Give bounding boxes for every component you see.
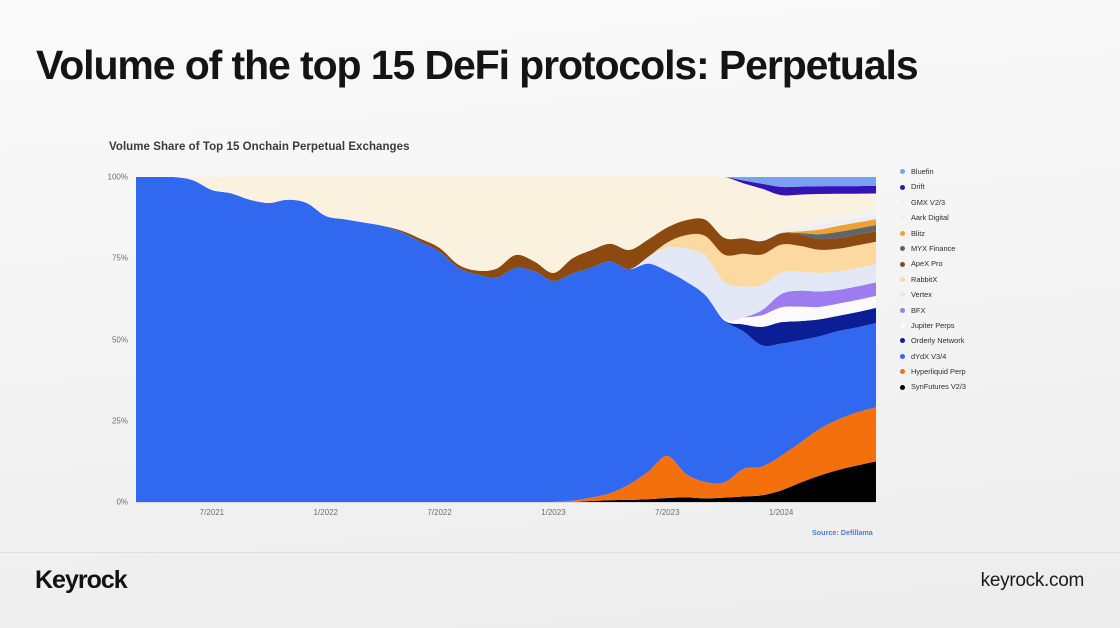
legend-color-swatch-icon [900,323,905,328]
brand-logo: Keyrock [35,566,127,595]
chart-title: Volume Share of Top 15 Onchain Perpetual… [109,141,410,153]
chart-panel: Volume Share of Top 15 Onchain Perpetual… [100,132,900,542]
legend-color-swatch-icon [900,262,905,267]
x-axis-tick-label: 1/2022 [314,508,338,517]
legend-item[interactable]: SynFutures V2/3 [900,379,1050,394]
legend-item[interactable]: RabbitX [900,272,1050,287]
legend-item-label: Blitz [911,226,925,241]
legend-item-label: MYX Finance [911,241,955,256]
legend-color-swatch-icon [900,200,905,205]
page-title: Volume of the top 15 DeFi protocols: Per… [36,42,918,89]
legend-color-swatch-icon [900,292,905,297]
x-axis-tick-labels: 7/20211/20227/20221/20237/20231/2024 [136,508,876,524]
x-axis-tick-label: 7/2022 [427,508,451,517]
legend-item-label: SynFutures V2/3 [911,379,966,394]
x-axis-tick-label: 7/2023 [655,508,679,517]
legend-item-label: Jupiter Perps [911,318,955,333]
website-url: keyrock.com [981,570,1084,592]
legend-color-swatch-icon [900,277,905,282]
legend-item[interactable]: GMX V2/3 [900,195,1050,210]
legend-color-swatch-icon [900,185,905,190]
legend-color-swatch-icon [900,385,905,390]
legend-item[interactable]: MYX Finance [900,241,1050,256]
y-axis-tick-label: 25% [112,416,128,425]
legend-item[interactable]: Aark Digital [900,210,1050,225]
legend-item-label: Vertex [911,287,932,302]
legend-item[interactable]: Vertex [900,287,1050,302]
legend-item[interactable]: Orderly Network [900,333,1050,348]
legend-item-label: Hyperliquid Perp [911,364,966,379]
legend-item-label: Bluefin [911,164,934,179]
plot-wrapper: 0%25%50%75%100% 7/20211/20227/20221/2023… [136,177,876,502]
legend-color-swatch-icon [900,354,905,359]
y-axis-tick-label: 0% [116,498,128,507]
x-axis-tick-label: 7/2021 [200,508,224,517]
legend-item[interactable]: Blitz [900,226,1050,241]
y-axis-tick-label: 50% [112,335,128,344]
legend-item[interactable]: Jupiter Perps [900,318,1050,333]
legend-item[interactable]: Bluefin [900,164,1050,179]
legend-item[interactable]: dYdX V3/4 [900,349,1050,364]
x-axis-tick-label: 1/2024 [769,508,793,517]
legend-color-swatch-icon [900,231,905,236]
footer-divider [0,552,1120,553]
source-attribution: Source: Defillama [812,528,873,537]
y-axis-tick-label: 75% [112,254,128,263]
y-axis-tick-label: 100% [108,173,128,182]
legend-item-label: dYdX V3/4 [911,349,946,364]
legend-item-label: Drift [911,179,925,194]
legend-item-label: RabbitX [911,272,937,287]
legend-item-label: BFX [911,303,925,318]
legend-item[interactable]: Hyperliquid Perp [900,364,1050,379]
legend-item-label: Orderly Network [911,333,964,348]
x-axis-tick-label: 1/2023 [541,508,565,517]
legend-item[interactable]: BFX [900,303,1050,318]
legend-item[interactable]: ApeX Pro [900,256,1050,271]
legend-item[interactable]: Drift [900,179,1050,194]
legend-item-label: GMX V2/3 [911,195,945,210]
legend-color-swatch-icon [900,169,905,174]
chart-legend: BluefinDriftGMX V2/3Aark DigitalBlitzMYX… [900,164,1050,395]
slide-canvas: Volume of the top 15 DeFi protocols: Per… [0,0,1120,628]
legend-item-label: Aark Digital [911,210,949,225]
legend-color-swatch-icon [900,246,905,251]
legend-color-swatch-icon [900,369,905,374]
x-axis-line [136,502,876,503]
legend-color-swatch-icon [900,308,905,313]
legend-color-swatch-icon [900,215,905,220]
y-axis-tick-labels: 0%25%50%75%100% [136,177,876,502]
legend-color-swatch-icon [900,338,905,343]
legend-item-label: ApeX Pro [911,256,943,271]
